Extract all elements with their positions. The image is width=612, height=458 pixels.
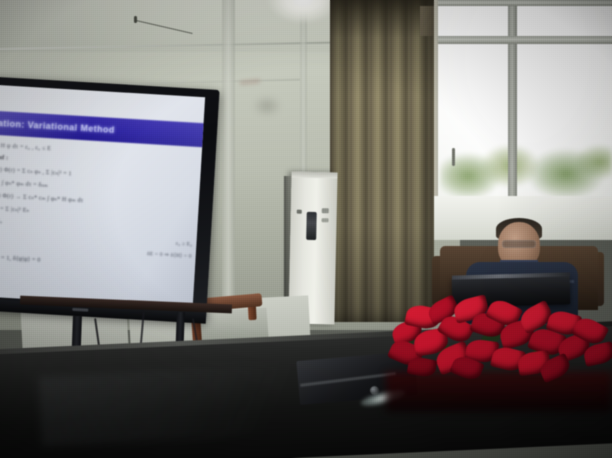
cabinet-display-panel[interactable] [306, 212, 317, 240]
curtain-header [330, 0, 434, 38]
wall-pillar [222, 0, 235, 300]
display-screen[interactable]: ...ation: Variational Method ∫ψ* H ψ dτ … [0, 84, 205, 309]
slide-body: ∫ψ* H ψ dτ = ε₀ , ε₀ ≤ E Proof : ψ*(r) Φ… [0, 138, 205, 309]
poinsettia-arrangement [388, 296, 612, 400]
window-mullion-horizontal [424, 36, 612, 44]
presentation-display[interactable]: ...ation: Variational Method ∫ψ* H ψ dτ … [0, 76, 220, 328]
cabinet-indicator-upper-right [322, 208, 329, 213]
cabinet-top [291, 172, 337, 179]
window-mullion-top [424, 0, 612, 6]
wall-scuff-mark [252, 95, 282, 117]
curtain-rod [420, 6, 434, 36]
curtain-shading [330, 0, 434, 322]
window [424, 0, 612, 240]
poinsettia-bloom [407, 356, 438, 379]
glasses-icon [502, 240, 536, 248]
window-handle[interactable] [452, 148, 455, 166]
cabinet-indicator-left [297, 210, 302, 214]
wall-pillar-secondary [300, 0, 307, 180]
cabinet-indicator-lower-right [322, 218, 329, 222]
photo-scene: ...ation: Variational Method ∫ψ* H ψ dτ … [0, 0, 612, 458]
